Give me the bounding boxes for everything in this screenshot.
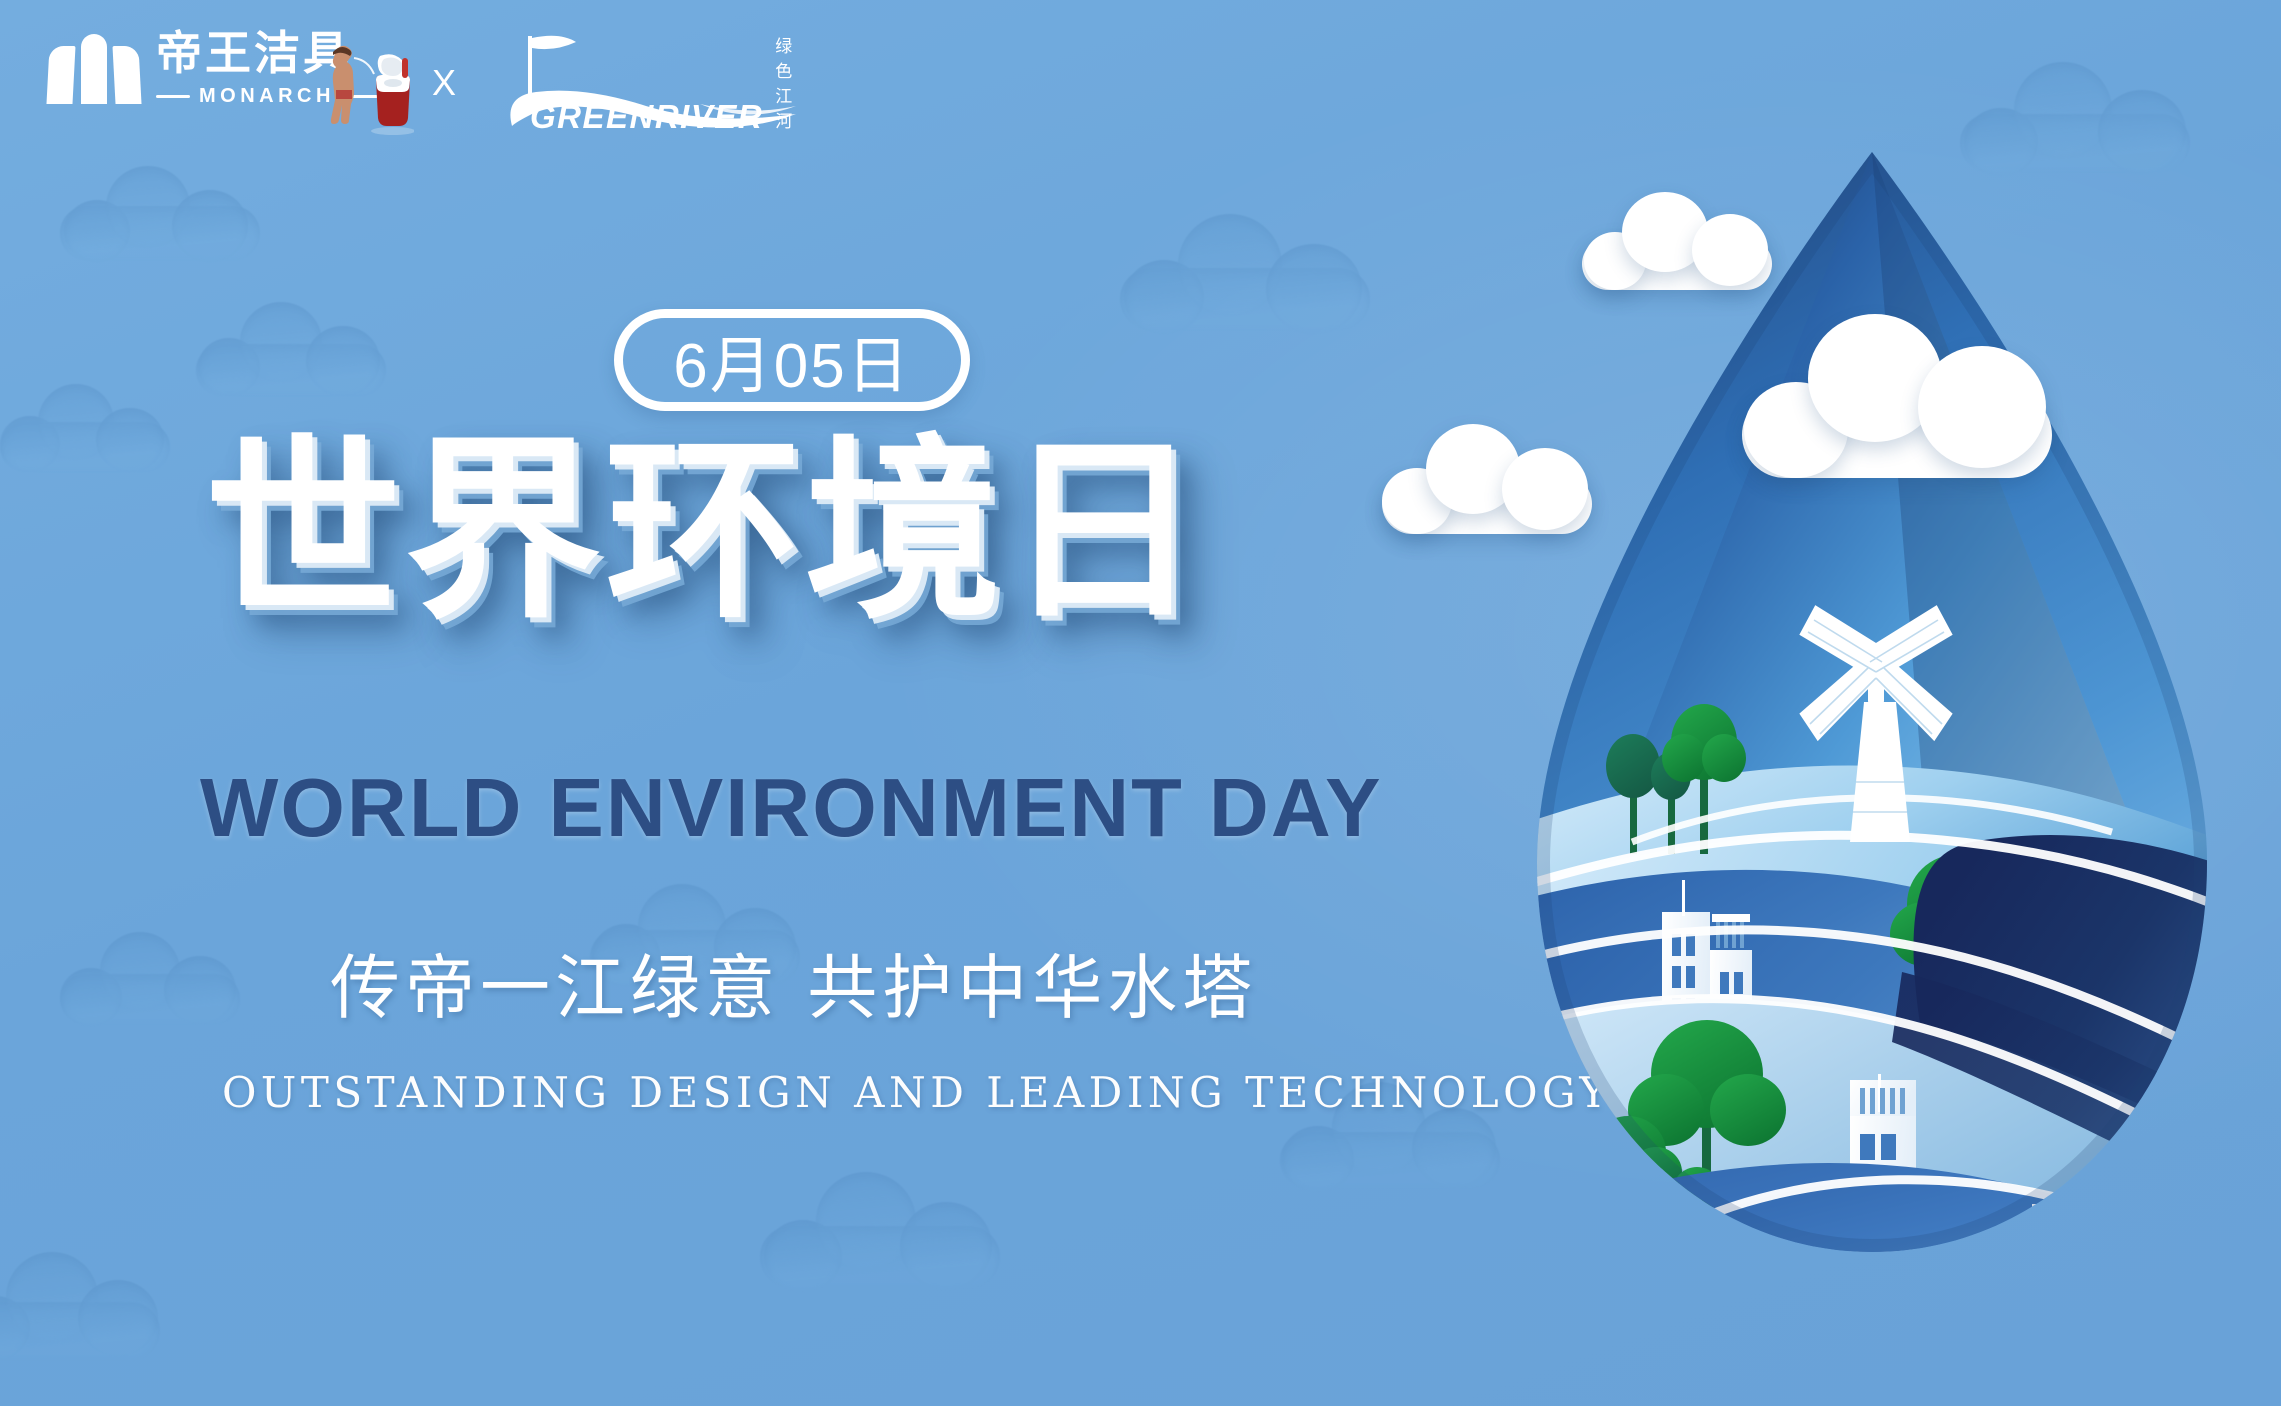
building-right [2032, 1204, 2106, 1292]
three-petal-logo-icon [48, 34, 140, 104]
background-cloud-icon [0, 1250, 160, 1360]
date-badge: 6月05日 [614, 309, 970, 411]
monarch-name-en: MONARCH [199, 85, 335, 108]
foreground-cloud-icon [1382, 422, 1592, 534]
background-cloud-icon [60, 930, 240, 1024]
poster-canvas: 帝王洁具 MONARCH [0, 0, 2281, 1406]
background-cloud-icon [760, 1170, 1000, 1288]
logo-separator-x: X [432, 62, 456, 104]
water-droplet-illustration [1472, 142, 2272, 1292]
greenriver-name-cn: 绿色江河 [775, 32, 800, 136]
date-badge-label: 6月05日 [673, 315, 910, 405]
background-cloud-icon [1120, 210, 1370, 330]
tagline-cn: 传帝一江绿意 共护中华水塔 [330, 932, 1257, 1033]
background-cloud-icon [60, 160, 260, 260]
page-title-cn: 世界环境日 [205, 434, 1205, 630]
monarch-rule-left [156, 95, 190, 98]
greenriver-name-en: GREENRIVER [530, 98, 763, 136]
tagline-en: OUTSTANDING DESIGN AND LEADING TECHNOLOG… [222, 1068, 1612, 1117]
background-cloud-icon [196, 300, 386, 396]
background-cloud-icon [0, 380, 170, 472]
greenriver-logo[interactable]: GREENRIVER 绿色江河 [500, 30, 800, 140]
header-logos: 帝王洁具 MONARCH [0, 0, 2281, 160]
page-title-en: WORLD ENVIRONMENT DAY [200, 760, 1383, 856]
foreground-cloud-icon [1582, 190, 1772, 290]
child-toilet-photo-icon [318, 28, 414, 138]
foreground-cloud-icon [1742, 310, 2052, 478]
